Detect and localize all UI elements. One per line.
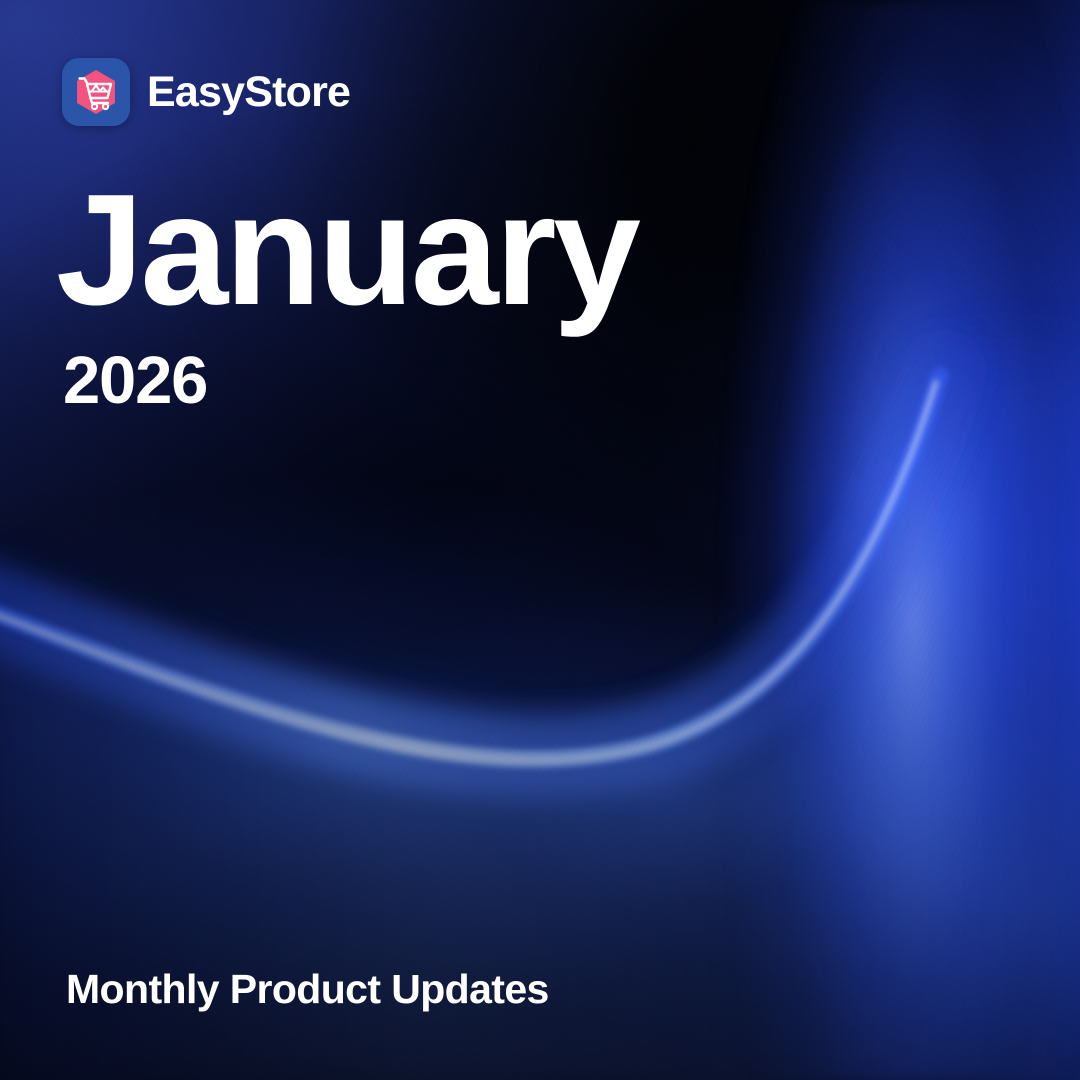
page-title-month: January: [56, 178, 638, 323]
subtitle-caption: Monthly Product Updates: [66, 967, 549, 1012]
poster-content: EasyStore January 2026 Monthly Product U…: [0, 0, 1080, 1080]
poster-canvas: EasyStore January 2026 Monthly Product U…: [0, 0, 1080, 1080]
brand-lockup[interactable]: EasyStore: [62, 58, 350, 126]
shopping-cart-hexagon-icon: [62, 58, 130, 126]
brand-name: EasyStore: [147, 71, 350, 114]
headline-block: January 2026: [56, 178, 638, 414]
